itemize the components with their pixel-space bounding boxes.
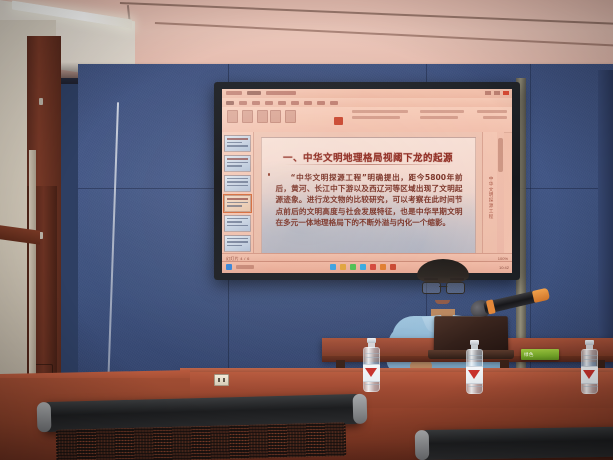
tab-design[interactable] bbox=[265, 101, 273, 105]
scrollbar-thumb[interactable] bbox=[498, 138, 503, 172]
ribbon-group-font[interactable] bbox=[352, 110, 408, 119]
slide-thumbnail[interactable] bbox=[224, 175, 251, 192]
app-logo-icon bbox=[334, 117, 343, 125]
chair[interactable] bbox=[420, 426, 613, 460]
close-icon[interactable] bbox=[503, 91, 509, 95]
folder-icon[interactable] bbox=[340, 264, 346, 270]
wall-outlet[interactable] bbox=[214, 374, 229, 386]
slide-title-underline bbox=[284, 164, 453, 165]
maximize-icon[interactable] bbox=[494, 91, 500, 95]
water-bottle[interactable] bbox=[363, 338, 380, 392]
wechat-icon[interactable] bbox=[350, 264, 356, 270]
presenter-brow bbox=[424, 278, 438, 280]
ribbon-group-slides[interactable] bbox=[270, 110, 296, 123]
water-bottle[interactable] bbox=[581, 340, 598, 394]
tab-transition[interactable] bbox=[278, 101, 286, 105]
slide-scrollbar[interactable] bbox=[497, 132, 504, 264]
bottle-label bbox=[581, 366, 598, 384]
chair-arm-cap bbox=[37, 402, 52, 432]
presenter-brow bbox=[450, 278, 464, 280]
bottle-brand-icon bbox=[468, 370, 480, 379]
browser-icon[interactable] bbox=[330, 264, 336, 270]
slide-thumbnail[interactable] bbox=[224, 235, 251, 252]
presenter-mouth bbox=[435, 300, 450, 304]
bottle-label bbox=[466, 366, 483, 384]
tab-file[interactable] bbox=[226, 101, 234, 105]
slide-side-column: 中华文明探源工程 bbox=[482, 132, 497, 264]
glasses-lens bbox=[446, 282, 465, 294]
ribbon-group-paragraph[interactable] bbox=[420, 110, 464, 119]
slide-side-text: 中华文明探源工程 bbox=[487, 176, 493, 219]
ribbon[interactable] bbox=[222, 107, 512, 133]
slide-thumbnail-panel[interactable] bbox=[222, 132, 254, 264]
slide-body-text: “中华文明探源工程”明确提出，距今5800年前后，黄河、长江中下游以及西辽河等区… bbox=[276, 172, 463, 228]
green-box-label: 绿色 bbox=[524, 352, 534, 358]
glasses-lens bbox=[422, 282, 441, 294]
slide-thumbnail[interactable] bbox=[224, 135, 251, 152]
cut-button[interactable] bbox=[242, 110, 253, 123]
chair-arm-cap bbox=[415, 430, 430, 460]
tab-slideshow[interactable] bbox=[304, 101, 312, 105]
new-slide-button[interactable] bbox=[270, 110, 281, 123]
ribbon-group-editing[interactable] bbox=[477, 110, 507, 119]
copy-button[interactable] bbox=[257, 110, 268, 123]
taskbar-start-area[interactable] bbox=[226, 264, 254, 270]
slide-thumbnail-selected[interactable] bbox=[224, 195, 251, 212]
glasses-icon bbox=[422, 282, 465, 292]
slide-editing-area[interactable]: 一、中华文明地理格局视阈下龙的起源 “中华文明探源工程”明确提出，距今5800年… bbox=[254, 132, 482, 264]
mail-icon[interactable] bbox=[370, 264, 376, 270]
ribbon-tab-strip[interactable] bbox=[222, 98, 512, 107]
slide-title: 一、中华文明地理格局视阈下龙的起源 bbox=[262, 150, 475, 164]
tab-view[interactable] bbox=[330, 101, 338, 105]
lecture-room-photo: 一、中华文明地理格局视阈下龙的起源 “中华文明探源工程”明确提出，距今5800年… bbox=[0, 0, 613, 460]
media-icon[interactable] bbox=[380, 264, 386, 270]
layout-button[interactable] bbox=[285, 110, 296, 123]
ceiling-seam bbox=[155, 22, 613, 46]
bottle-brand-icon bbox=[583, 370, 595, 379]
ribbon-group-clipboard[interactable] bbox=[227, 110, 268, 123]
search-box[interactable] bbox=[236, 265, 254, 269]
start-icon[interactable] bbox=[226, 264, 232, 270]
zoom-level: 100% bbox=[498, 256, 508, 261]
qq-icon[interactable] bbox=[360, 264, 366, 270]
current-slide[interactable]: 一、中华文明地理格局视阈下龙的起源 “中华文明探源工程”明确提出，距今5800年… bbox=[261, 137, 476, 259]
mic-tail bbox=[532, 288, 550, 303]
minimize-icon[interactable] bbox=[485, 91, 491, 95]
display-screen[interactable]: 一、中华文明地理格局视阈下龙的起源 “中华文明探源工程”明确提出，距今5800年… bbox=[222, 89, 512, 273]
wall-display[interactable]: 一、中华文明地理格局视阈下龙的起源 “中华文明探源工程”明确提出，距今5800年… bbox=[214, 82, 520, 280]
bottle-brand-icon bbox=[365, 368, 377, 377]
green-box[interactable]: 绿色 bbox=[521, 349, 559, 360]
door-hinge bbox=[39, 98, 43, 105]
paste-button[interactable] bbox=[227, 110, 238, 123]
slide-thumbnail[interactable] bbox=[224, 215, 251, 232]
ceiling-seam bbox=[120, 2, 613, 25]
taskbar-app-icons[interactable] bbox=[330, 264, 396, 270]
bottle-label bbox=[363, 364, 380, 382]
tab-insert[interactable] bbox=[252, 101, 260, 105]
quick-access-toolbar[interactable] bbox=[226, 91, 296, 95]
door-gap bbox=[29, 150, 36, 380]
tab-review[interactable] bbox=[317, 101, 325, 105]
tab-animation[interactable] bbox=[291, 101, 299, 105]
bullet-icon bbox=[268, 173, 271, 176]
window-controls[interactable] bbox=[485, 91, 509, 95]
tab-home[interactable] bbox=[239, 101, 247, 105]
chair-mesh-back bbox=[56, 422, 347, 460]
chair-arm-cap bbox=[353, 394, 368, 424]
slide-thumbnail[interactable] bbox=[224, 155, 251, 172]
water-bottle[interactable] bbox=[466, 340, 483, 394]
